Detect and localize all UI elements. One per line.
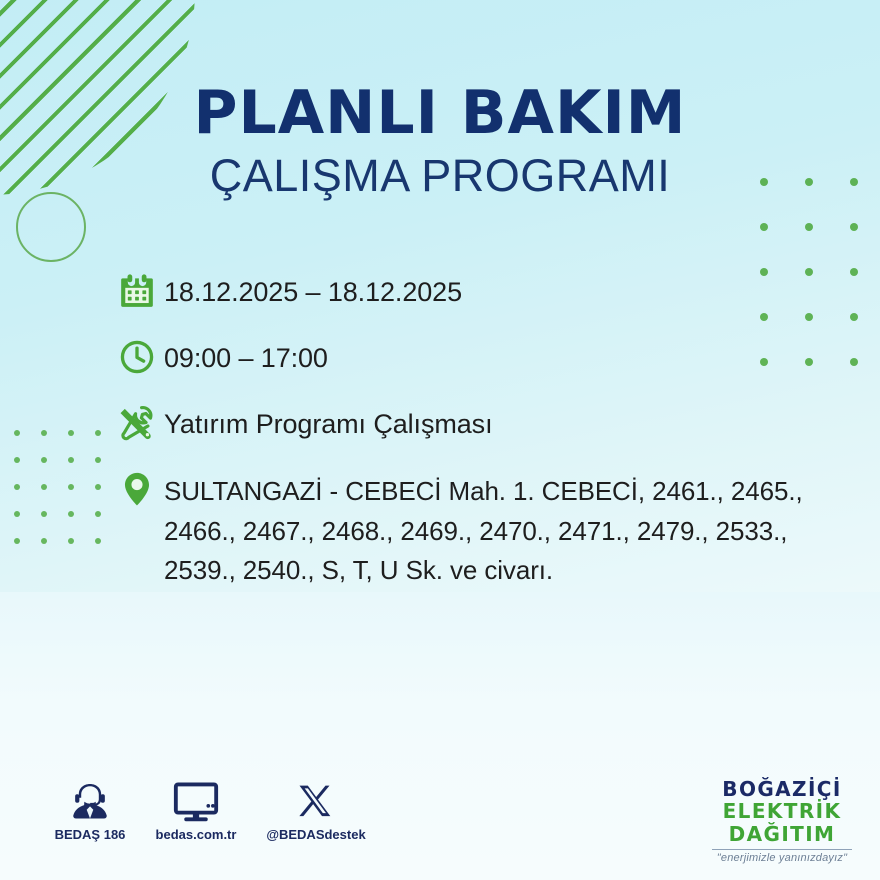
footer-item-website[interactable]: bedas.com.tr bbox=[146, 778, 246, 844]
footer-label-website: bedas.com.tr bbox=[156, 827, 237, 842]
footer-contacts: BEDAŞ 186 bedas.com.tr @BEDASdestek bbox=[40, 778, 386, 844]
brand-divider bbox=[712, 849, 852, 850]
calendar-icon bbox=[118, 272, 164, 316]
page-subtitle: ÇALIŞMA PROGRAMI bbox=[0, 150, 880, 202]
x-twitter-icon bbox=[252, 778, 380, 826]
clock-icon bbox=[118, 338, 164, 382]
work-type-text: Yatırım Programı Çalışması bbox=[164, 404, 878, 444]
info-row-time: 09:00 – 17:00 bbox=[118, 338, 878, 382]
footer-item-call-center[interactable]: BEDAŞ 186 bbox=[40, 778, 140, 844]
support-headset-icon bbox=[40, 778, 140, 826]
footer-item-social[interactable]: @BEDASdestek bbox=[252, 778, 380, 844]
info-row-address: SULTANGAZİ - CEBECİ Mah. 1. CEBECİ, 2461… bbox=[118, 470, 878, 591]
page-title: PLANLI BAKIM bbox=[0, 82, 880, 146]
poster-header: PLANLI BAKIM ÇALIŞMA PROGRAMI bbox=[0, 82, 880, 202]
footer-label-social: @BEDASdestek bbox=[266, 827, 365, 842]
footer-label-call-center: BEDAŞ 186 bbox=[55, 827, 126, 842]
date-range-text: 18.12.2025 – 18.12.2025 bbox=[164, 272, 878, 312]
brand-tagline: "enerjimizle yanınızdayız" bbox=[702, 852, 862, 864]
circle-outline-decoration bbox=[16, 192, 86, 262]
location-pin-icon bbox=[118, 470, 164, 514]
brand-line-2: ELEKTRİK bbox=[702, 800, 862, 822]
info-list: 18.12.2025 – 18.12.2025 09:00 – 17:00 Ya… bbox=[118, 272, 878, 591]
monitor-icon bbox=[146, 778, 246, 826]
dot-grid-left-decoration bbox=[14, 430, 101, 544]
poster-canvas: PLANLI BAKIM ÇALIŞMA PROGRAMI bbox=[0, 0, 880, 880]
info-row-date: 18.12.2025 – 18.12.2025 bbox=[118, 272, 878, 316]
brand-logo: BOĞAZİÇİ ELEKTRİK DAĞITIM "enerjimizle y… bbox=[702, 778, 862, 864]
info-row-work-type: Yatırım Programı Çalışması bbox=[118, 404, 878, 448]
tools-icon bbox=[118, 404, 164, 448]
address-text: SULTANGAZİ - CEBECİ Mah. 1. CEBECİ, 2461… bbox=[164, 470, 864, 591]
time-range-text: 09:00 – 17:00 bbox=[164, 338, 878, 378]
brand-line-1: BOĞAZİÇİ bbox=[702, 778, 862, 800]
brand-line-3: DAĞITIM bbox=[702, 823, 862, 845]
